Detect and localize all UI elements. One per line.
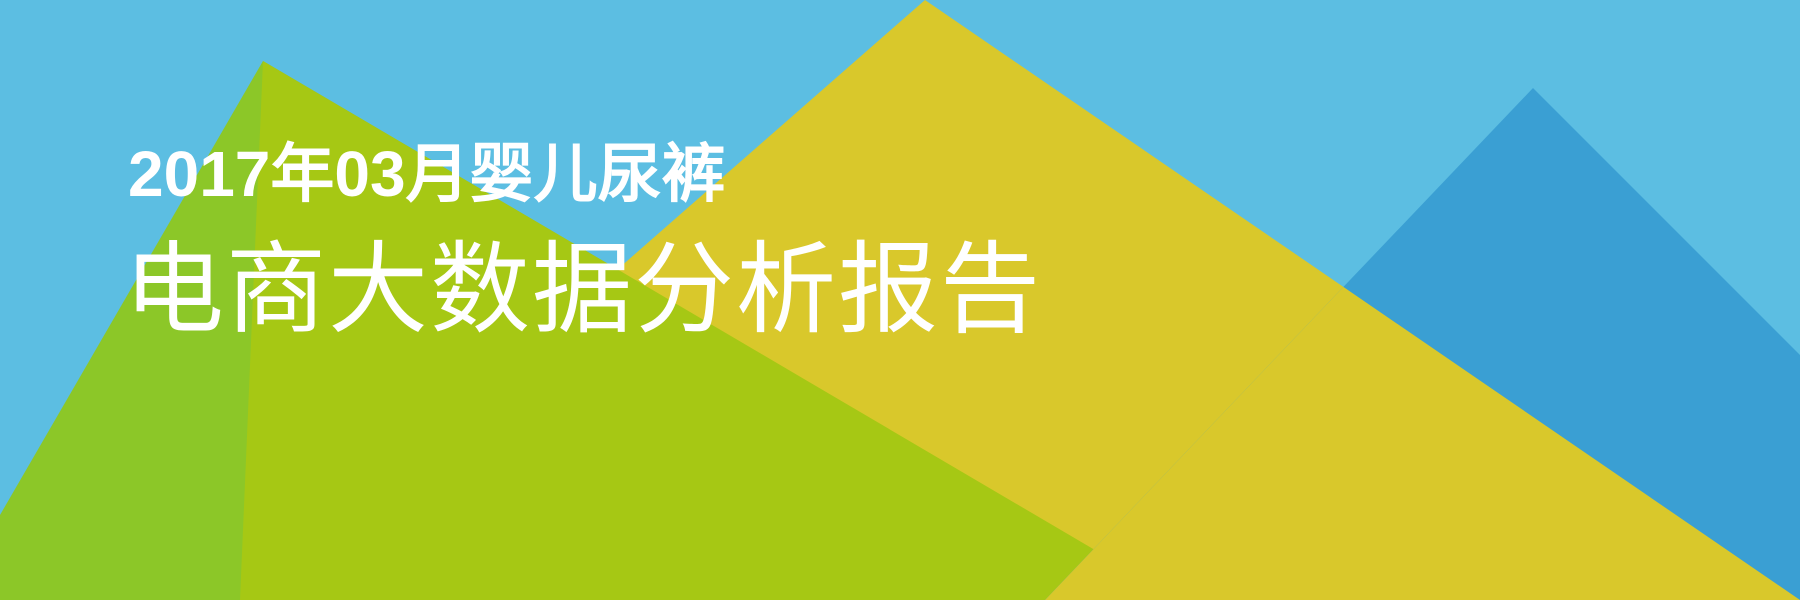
report-cover-banner: 2017年03月婴儿尿裤 电商大数据分析报告 — [0, 0, 1800, 600]
background-artwork — [0, 0, 1800, 600]
